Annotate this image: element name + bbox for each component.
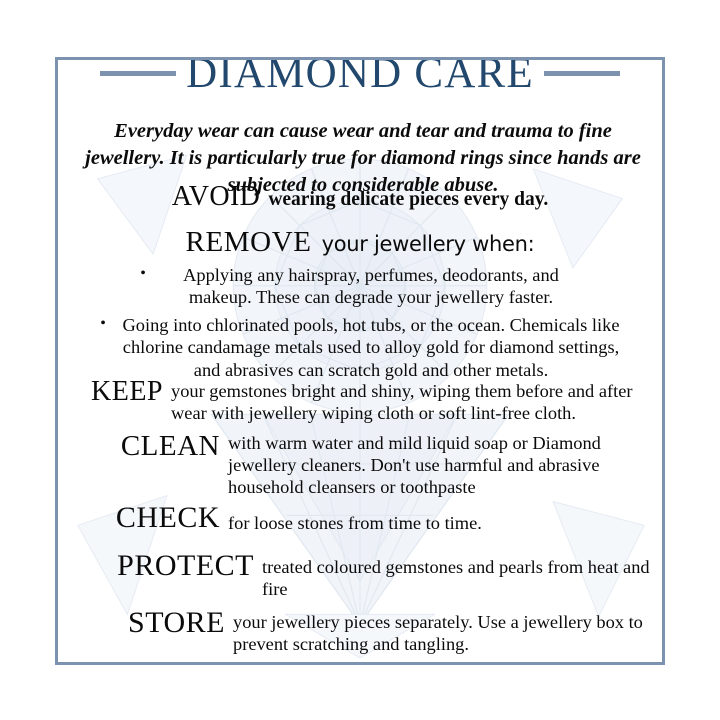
section-keyword: CHECK [58,503,228,533]
section-protect: PROTECT treated coloured gemstones and p… [58,551,662,600]
remove-text: your jewellery when: [322,232,535,256]
section-text: with warm water and mild liquid soap or … [228,432,662,498]
section-text: your gemstones bright and shiny, wiping … [171,380,662,424]
section-keyword: CLEAN [58,432,228,461]
title-rule-left-icon [100,71,176,76]
avoid-keyword: AVOID [172,181,261,212]
bullet-dot-icon: • [95,314,111,335]
bullet-dot-icon: • [135,264,151,285]
section-keyword: KEEP [58,378,171,406]
list-item: • Going into chlorinated pools, hot tubs… [76,314,650,381]
page-title: DIAMOND CARE [186,57,534,95]
section-keep: KEEP your gemstones bright and shiny, wi… [58,378,662,424]
title-rule-right-icon [544,71,620,76]
section-keyword: PROTECT [58,551,262,581]
section-store: STORE your jewellery pieces separately. … [58,608,662,655]
avoid-text: wearing delicate pieces every day. [268,189,548,210]
section-text: your jewellery pieces separately. Use a … [233,611,662,655]
diamond-care-card: DIAMOND CARE Everyday wear can cause wea… [55,57,665,665]
section-check: CHECK for loose stones from time to time… [58,503,662,534]
page-title-row: DIAMOND CARE [58,57,662,99]
avoid-line: AVOIDwearing delicate pieces every day. [58,181,662,213]
list-item: • Applying any hairspray, perfumes, deod… [76,264,650,309]
section-clean: CLEAN with warm water and mild liquid so… [58,432,662,498]
remove-bullet-list: • Applying any hairspray, perfumes, deod… [76,264,650,386]
list-item-text: Going into chlorinated pools, hot tubs, … [111,314,631,381]
section-keyword: STORE [58,608,233,638]
remove-line: REMOVEyour jewellery when: [58,226,662,259]
section-text: treated coloured gemstones and pearls fr… [262,556,662,600]
section-text: for loose stones from time to time. [228,512,662,534]
list-item-text: Applying any hairspray, perfumes, deodor… [151,264,591,309]
remove-keyword: REMOVE [186,226,312,258]
